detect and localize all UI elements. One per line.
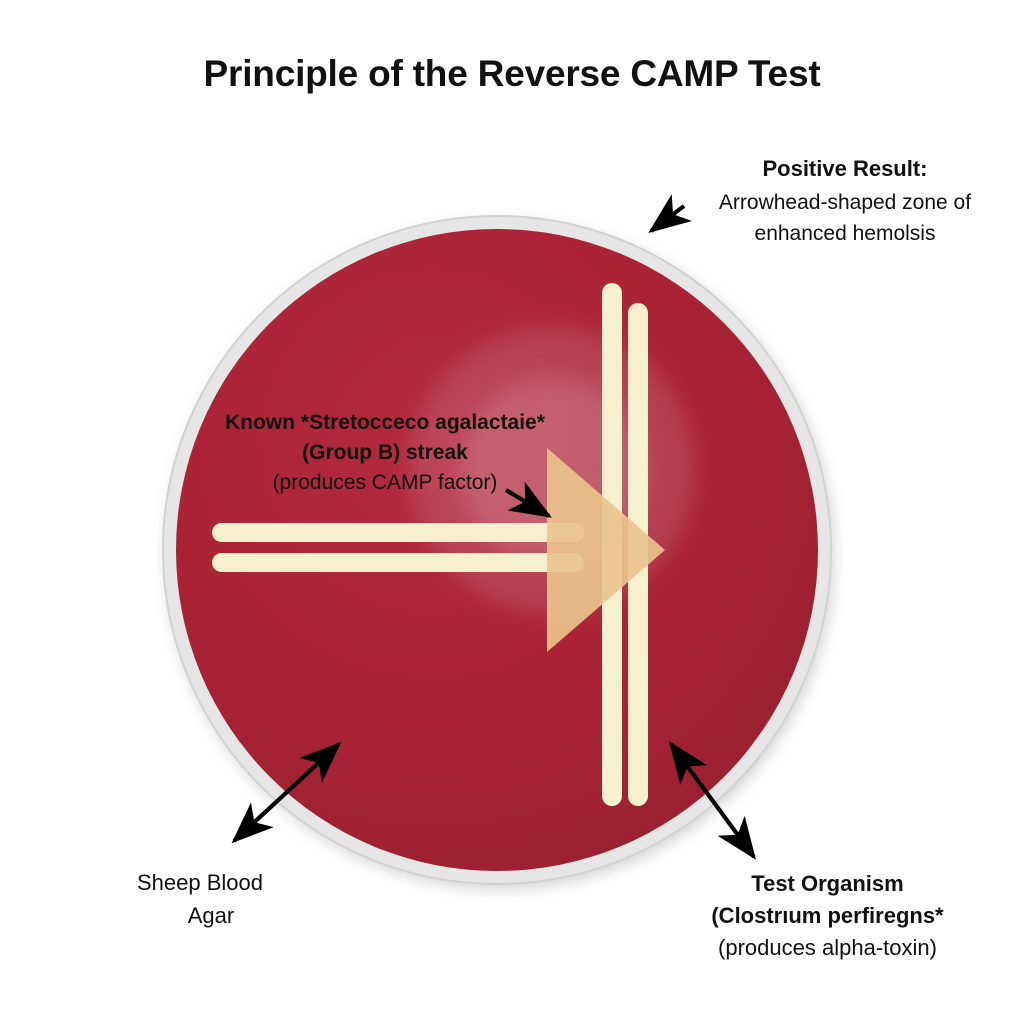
reverse-camp-test-illustration <box>0 0 1024 1024</box>
figure-canvas: Principle of the Reverse CAMP Test Posit… <box>0 0 1024 1024</box>
arrow-positive-result <box>651 206 684 231</box>
